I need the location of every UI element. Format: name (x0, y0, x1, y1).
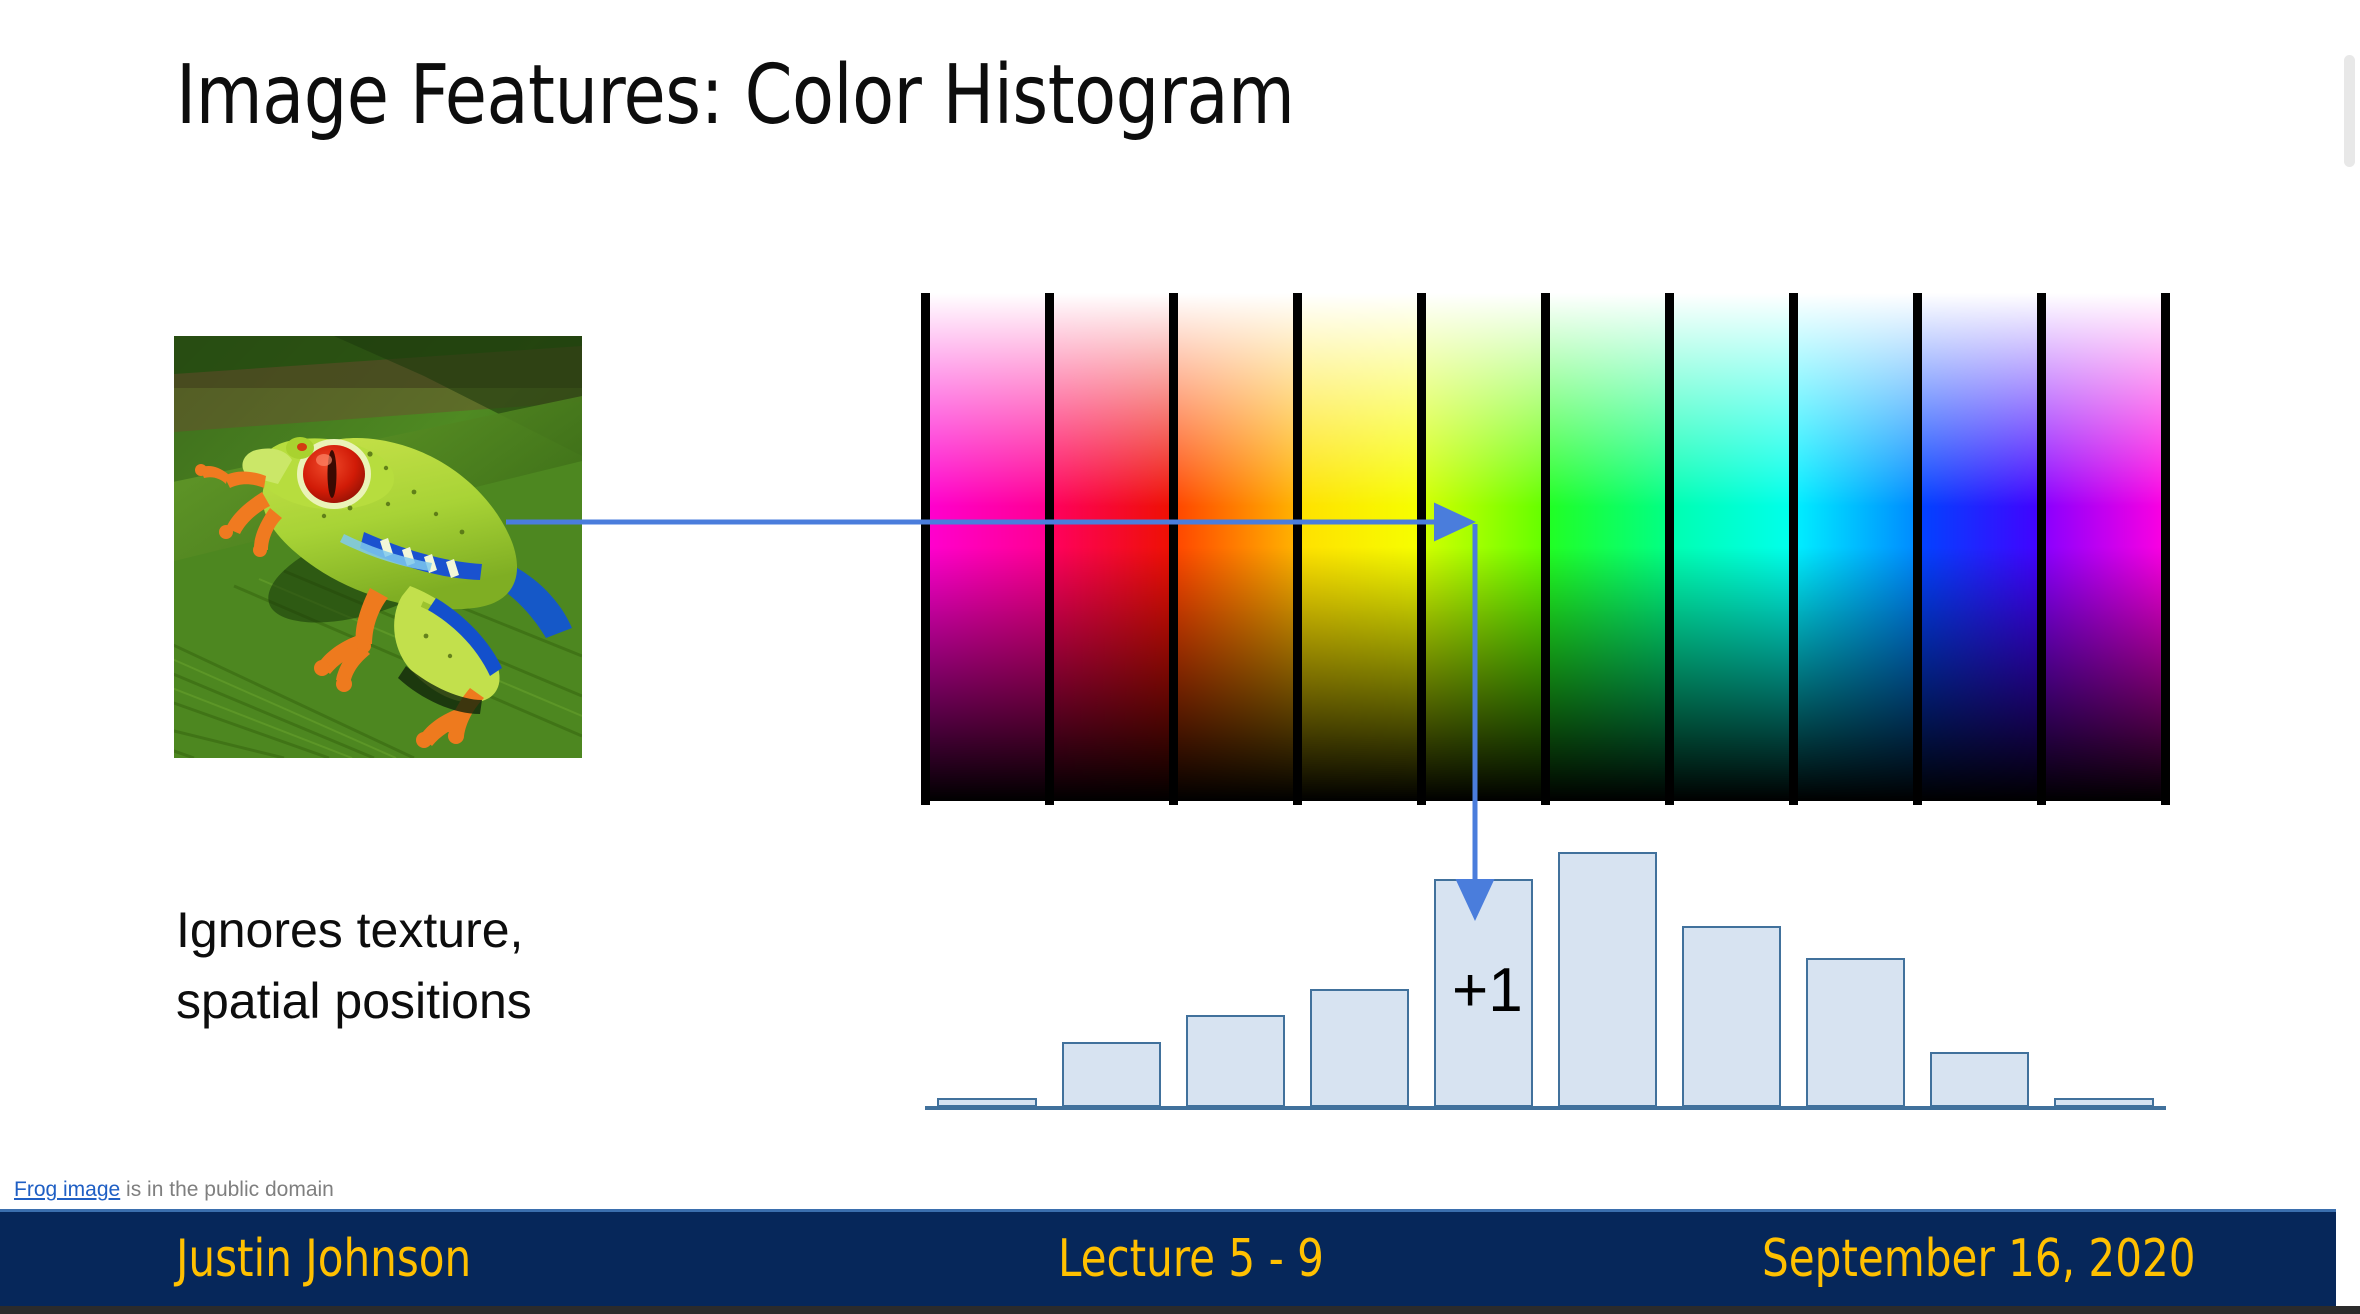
caption-text: Ignores texture, spatial positions (176, 895, 532, 1037)
spectrum-divider-4 (1417, 293, 1426, 805)
frog-illustration (174, 336, 582, 758)
footer-date: September 16, 2020 (1762, 1229, 2196, 1289)
hue-spectrum-strip (925, 293, 2166, 805)
color-histogram-chart (925, 820, 2166, 1110)
spectrum-divider-10 (2161, 293, 2170, 805)
hue-band-violet-magenta (2042, 293, 2167, 801)
page-title: Image Features: Color Histogram (176, 48, 1294, 143)
spectrum-divider-8 (1913, 293, 1922, 805)
spectrum-divider-0 (921, 293, 930, 805)
attribution: Frog image is in the public domain (14, 1178, 334, 1202)
spectrum-divider-2 (1169, 293, 1178, 805)
histogram-bar (1558, 852, 1657, 1107)
histogram-bar (1930, 1052, 2029, 1107)
hue-band-orange (1173, 293, 1298, 801)
attribution-rest: is in the public domain (120, 1178, 334, 1201)
histogram-bar (1806, 958, 1905, 1107)
hue-band-red (1049, 293, 1174, 801)
histogram-bar (1682, 926, 1781, 1107)
hue-band-green (1546, 293, 1671, 801)
slide-canvas: Image Features: Color Histogram (0, 0, 2360, 1314)
spectrum-divider-1 (1045, 293, 1054, 805)
caption-line-1: Ignores texture, (176, 895, 532, 966)
footer-lecture: Lecture 5 - 9 (1058, 1229, 1324, 1289)
window-bottom-strip (0, 1306, 2360, 1314)
histogram-bar (1062, 1042, 1161, 1107)
histogram-bar (2054, 1098, 2153, 1107)
spectrum-divider-6 (1665, 293, 1674, 805)
spectrum-divider-3 (1293, 293, 1302, 805)
histogram-bar (937, 1098, 1036, 1107)
hue-band-spring-green (1670, 293, 1795, 801)
footer-author: Justin Johnson (176, 1229, 471, 1289)
frog-image-link[interactable]: Frog image (14, 1178, 120, 1201)
hue-band-cyan (1794, 293, 1919, 801)
plus-one-annotation: +1 (1452, 955, 1523, 1026)
hue-band-magenta (925, 293, 1050, 801)
slide-footer: Justin Johnson Lecture 5 - 9 September 1… (0, 1209, 2360, 1306)
scrollbar-thumb[interactable] (2344, 55, 2355, 167)
caption-line-2: spatial positions (176, 966, 532, 1037)
hue-band-yellow (1297, 293, 1422, 801)
hue-band-blue (1918, 293, 2043, 801)
spectrum-divider-9 (2037, 293, 2046, 805)
histogram-bar (1186, 1015, 1285, 1107)
spectrum-divider-7 (1789, 293, 1798, 805)
spectrum-divider-5 (1541, 293, 1550, 805)
histogram-bar (1310, 989, 1409, 1107)
hue-band-yellow-green (1421, 293, 1546, 801)
scrollbar-track[interactable] (2336, 0, 2360, 1314)
frog-image (174, 336, 582, 758)
